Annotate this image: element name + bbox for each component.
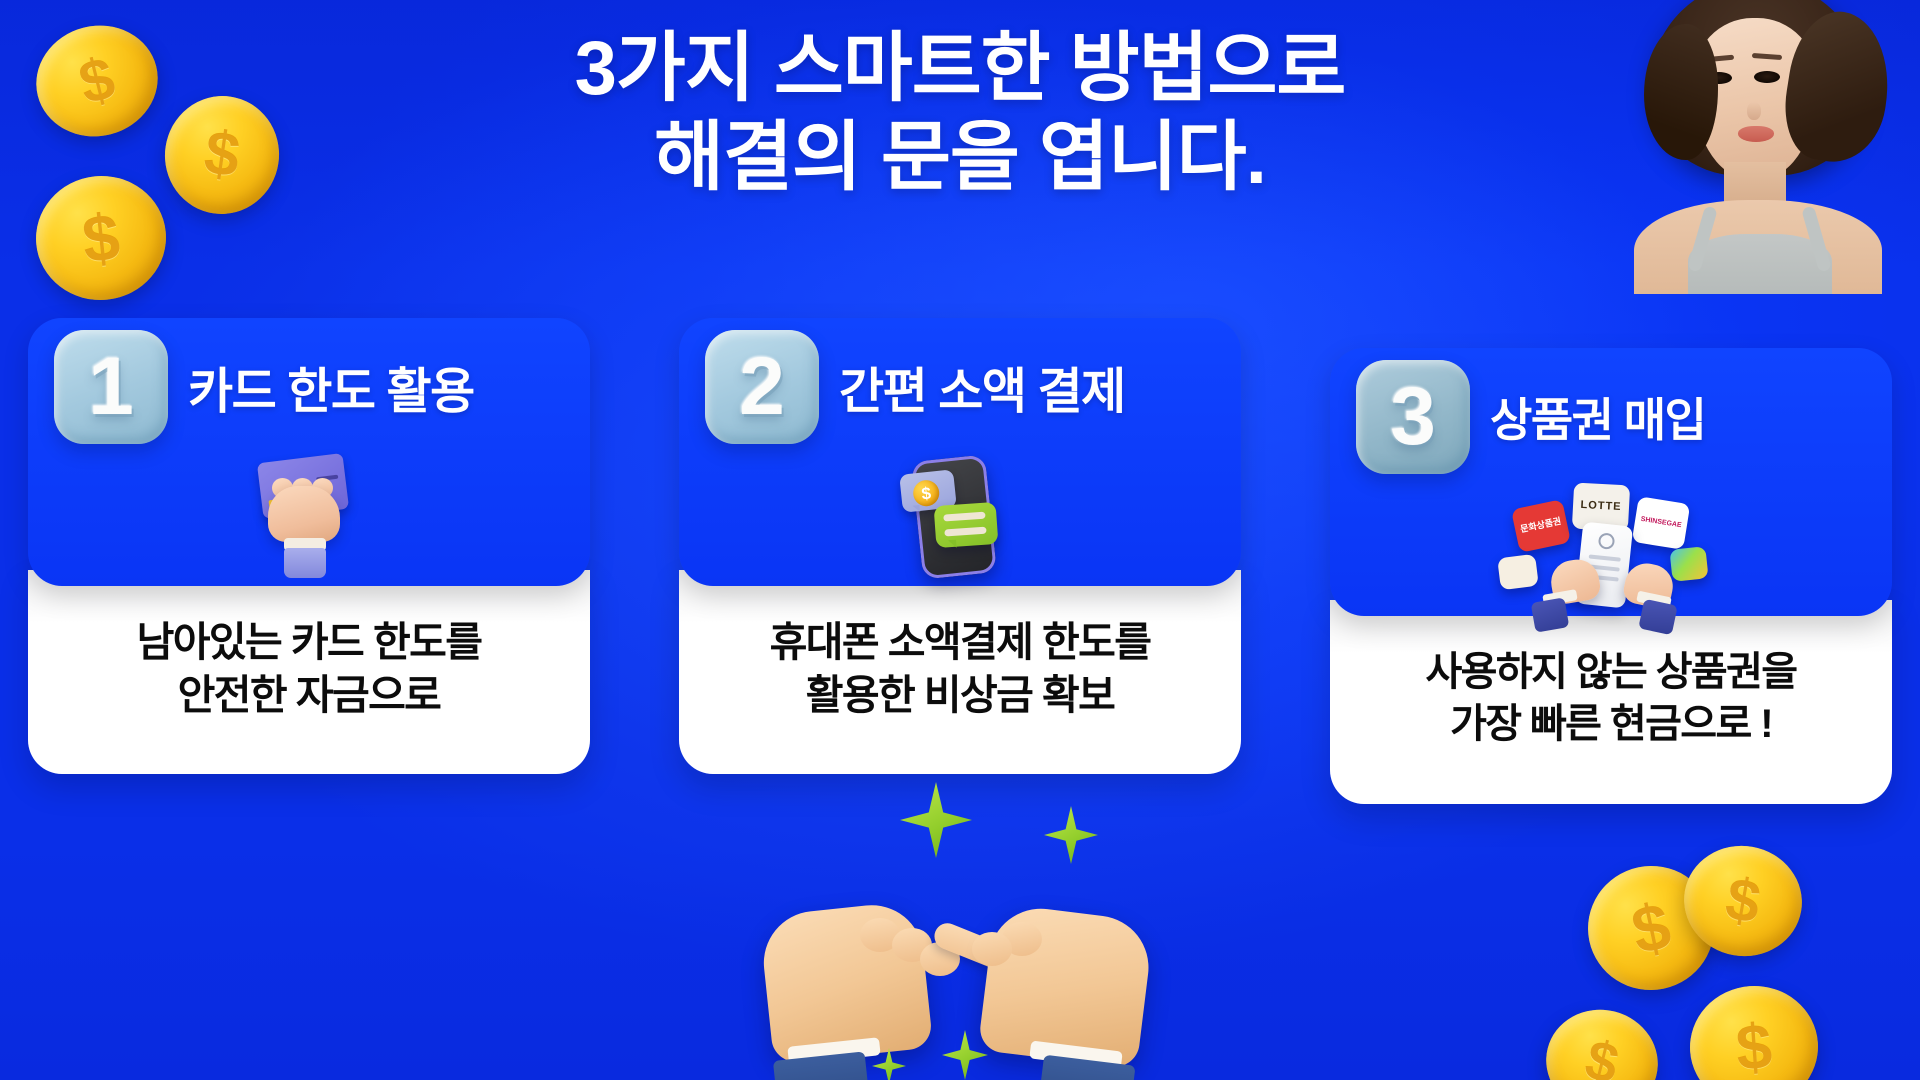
headline-line-1: 3가지 스마트한 방법으로 [0,26,1920,111]
card-top-panel: 2 간편 소액 결제 $ [679,318,1241,586]
sparkle-icon [1044,806,1098,864]
banner-stage: $ $ $ $ $ $ $ 3가지 스마트한 방법으로 해결의 문을 엽니다. [0,0,1920,1080]
pinky-promise-hands-icon [742,866,1162,1080]
benefit-cards-row: 1 카드 한도 활용 남아있는 카 [0,318,1920,804]
card-top-panel: 3 상품권 매입 문화상품권 LOTTE SHINSEGAE [1330,348,1892,616]
card-header: 2 간편 소액 결제 [705,330,1223,444]
voucher-tile [1669,546,1708,582]
card-body-line-1: 남아있는 카드 한도를 [46,616,572,669]
card-number-badge: 1 [54,330,168,444]
card-header: 1 카드 한도 활용 [54,330,572,444]
knuckle [972,932,1012,966]
card-header: 3 상품권 매입 [1356,360,1874,474]
benefit-card[interactable]: 2 간편 소액 결제 $ [679,318,1241,804]
voucher-tile: 문화상품권 [1511,499,1571,553]
card-body-line-1: 휴대폰 소액결제 한도를 [697,616,1223,669]
hand-holding-credit-card-icon [234,452,384,582]
phone-screen-line [1589,554,1621,561]
coin-symbol: $ [79,203,122,272]
card-number: 3 [1390,376,1436,458]
sleeve [284,548,326,578]
gift-voucher-tiles-with-phone-icon: 문화상품권 LOTTE SHINSEGAE [1493,482,1729,612]
card-body-line-1: 사용하지 않는 상품권을 [1348,646,1874,698]
phone-with-payment-message-icon: $ [895,450,1025,582]
card-body-line-2: 활용한 비상금 확보 [697,669,1223,722]
card-number-badge: 2 [705,330,819,444]
coin-symbol: $ [1721,869,1764,934]
voucher-tile [1497,554,1539,590]
phone-screen-icon [1598,532,1616,550]
hand-left [759,900,934,1064]
coin-symbol: $ [1734,1014,1774,1080]
card-number: 2 [739,346,785,428]
card-body: 사용하지 않는 상품권을 가장 빠른 현금으로 ! [1330,600,1892,804]
coin-symbol: $ [1580,1031,1624,1080]
hand-shape [268,486,340,542]
message-line [944,527,986,537]
card-illustration [28,450,590,582]
coin-decoration: $ [1535,998,1669,1080]
card-title: 상품권 매입 [1490,384,1705,450]
message-speech-bubble [934,502,999,548]
benefit-card[interactable]: 1 카드 한도 활용 남아있는 카 [28,318,590,804]
voucher-tile: SHINSEGAE [1632,496,1691,550]
sleeve-left [1531,597,1570,632]
message-line [943,512,985,522]
card-top-panel: 1 카드 한도 활용 [28,318,590,586]
card-number-badge: 3 [1356,360,1470,474]
card-body-line-2: 안전한 자금으로 [46,669,572,722]
card-body: 남아있는 카드 한도를 안전한 자금으로 [28,570,590,774]
card-title: 간편 소액 결제 [839,352,1125,423]
card-body-line-2: 가장 빠른 현금으로 ! [1348,698,1874,750]
headline: 3가지 스마트한 방법으로 해결의 문을 엽니다. [0,26,1920,200]
benefit-card[interactable]: 3 상품권 매입 문화상품권 LOTTE SHINSEGAE [1330,348,1892,804]
coin-symbol: $ [1626,892,1676,964]
card-title: 카드 한도 활용 [188,352,474,423]
card-illustration: $ [679,450,1241,582]
card-illustration: 문화상품권 LOTTE SHINSEGAE [1330,480,1892,612]
coin-decoration: $ [1686,982,1822,1080]
coin-icon: $ [912,479,941,508]
card-number: 1 [88,346,134,428]
card-body: 휴대폰 소액결제 한도를 활용한 비상금 확보 [679,570,1241,774]
headline-line-2: 해결의 문을 엽니다. [0,115,1920,200]
